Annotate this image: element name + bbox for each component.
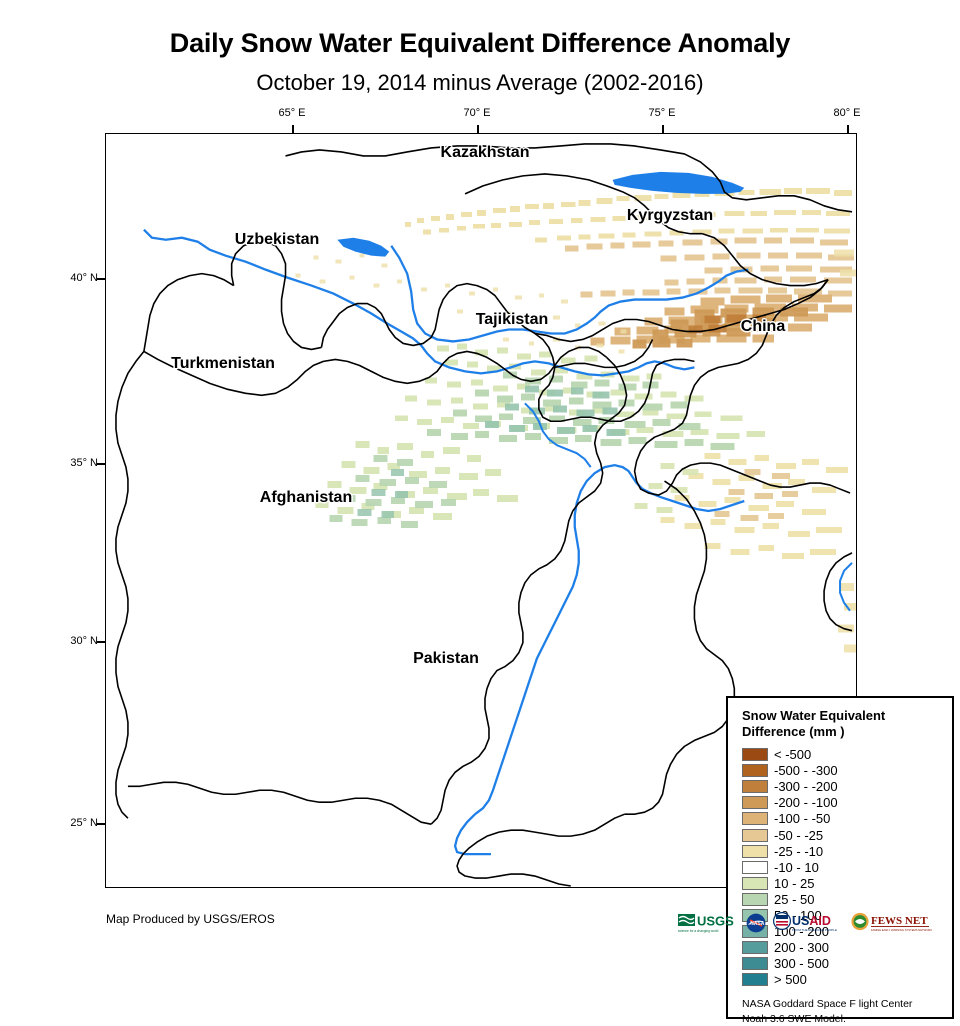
legend-swatch xyxy=(742,877,768,890)
legend-credit-line2: Noah 3.6 SWE Model. xyxy=(742,1012,952,1026)
border-kazakhstan xyxy=(286,144,852,212)
lon-tick xyxy=(662,125,664,134)
border-turkmenistan-west xyxy=(144,274,234,352)
legend-class-list: < -500-500 - -300-300 - -200-200 - -100-… xyxy=(742,747,952,988)
legend-row: 25 - 50 xyxy=(742,891,952,907)
legend-label: 200 - 300 xyxy=(774,940,829,955)
legend-swatch xyxy=(742,829,768,842)
lat-tick xyxy=(97,641,106,643)
legend-row: -25 - -10 xyxy=(742,843,952,859)
svg-text:FAMINE EARLY WARNING SYSTEMS N: FAMINE EARLY WARNING SYSTEMS NETWORK xyxy=(871,928,932,932)
lat-label-35: 35° N xyxy=(54,457,98,469)
legend-swatch xyxy=(742,893,768,906)
legend-title-line1: Snow Water Equivalent xyxy=(742,708,942,724)
country-label-uzbekistan: Uzbekistan xyxy=(235,231,319,249)
river-indus-delta xyxy=(455,814,491,854)
legend-label: -500 - -300 xyxy=(774,763,838,778)
border-turkmenistan-iran xyxy=(116,351,144,818)
legend-row: -300 - -200 xyxy=(742,779,952,795)
lon-label-65: 65° E xyxy=(278,107,305,119)
lon-label-70: 70° E xyxy=(463,107,490,119)
country-label-afghanistan: Afghanistan xyxy=(260,489,352,507)
border-china-tibet xyxy=(824,553,852,631)
legend-row: 10 - 25 xyxy=(742,875,952,891)
country-label-pakistan: Pakistan xyxy=(413,650,479,668)
svg-text:NASA: NASA xyxy=(750,921,765,927)
country-label-china: China xyxy=(741,318,785,336)
legend-label: -10 - 10 xyxy=(774,860,819,875)
lat-label-30: 30° N xyxy=(54,635,98,647)
lon-tick xyxy=(847,125,849,134)
legend-label: > 500 xyxy=(774,972,807,987)
fewsnet-logo[interactable]: FEWS NET FAMINE EARLY WARNING SYSTEMS NE… xyxy=(850,912,934,934)
legend-swatch xyxy=(742,957,768,970)
usaid-logo[interactable]: USAID FROM THE AMERICAN PEOPLE xyxy=(772,912,844,934)
legend-row: -200 - -100 xyxy=(742,795,952,811)
map-producer-credit: Map Produced by USGS/EROS xyxy=(106,912,275,926)
legend-swatch xyxy=(742,748,768,761)
legend-swatch xyxy=(742,780,768,793)
border-uzbek-kazakh xyxy=(232,242,322,350)
lat-tick xyxy=(97,823,106,825)
lon-label-80: 80° E xyxy=(833,107,860,119)
legend-label: -300 - -200 xyxy=(774,779,838,794)
country-label-tajikistan: Tajikistan xyxy=(476,311,549,329)
legend-swatch xyxy=(742,845,768,858)
lon-label-75: 75° E xyxy=(648,107,675,119)
legend-label: -50 - -25 xyxy=(774,828,823,843)
legend-row: -500 - -300 xyxy=(742,763,952,779)
agency-logos: USGS science for a changing world NASA U… xyxy=(678,908,934,938)
legend-row: -10 - 10 xyxy=(742,859,952,875)
lat-tick xyxy=(97,278,106,280)
legend-swatch xyxy=(742,861,768,874)
legend-label: 300 - 500 xyxy=(774,956,829,971)
legend-swatch xyxy=(742,941,768,954)
country-label-kazakhstan: Kazakhstan xyxy=(441,144,530,162)
legend-swatch xyxy=(742,764,768,777)
border-pakistan-coast xyxy=(457,814,625,886)
svg-text:FROM THE AMERICAN PEOPLE: FROM THE AMERICAN PEOPLE xyxy=(792,928,837,932)
legend-credit: NASA Goddard Space F light Center Noah 3… xyxy=(742,997,952,1026)
legend-label: -100 - -50 xyxy=(774,811,830,826)
legend-swatch xyxy=(742,796,768,809)
lat-tick xyxy=(97,463,106,465)
legend-label: < -500 xyxy=(774,747,811,762)
river-indus xyxy=(475,465,744,814)
legend-swatch xyxy=(742,973,768,986)
legend-row: < -500 xyxy=(742,747,952,763)
legend-label: 10 - 25 xyxy=(774,876,814,891)
svg-text:science for a changing world: science for a changing world xyxy=(678,929,719,933)
usgs-logo[interactable]: USGS science for a changing world xyxy=(678,912,740,934)
border-afghanistan-south xyxy=(128,782,431,824)
legend-label: -200 - -100 xyxy=(774,795,838,810)
legend-row: 300 - 500 xyxy=(742,956,952,972)
legend-title-line2: Difference (mm ) xyxy=(742,724,942,740)
nasa-logo[interactable]: NASA xyxy=(746,913,766,933)
legend-row: > 500 xyxy=(742,972,952,988)
lat-label-25: 25° N xyxy=(54,817,98,829)
legend-row: -50 - -25 xyxy=(742,827,952,843)
map-legend[interactable]: Snow Water Equivalent Difference (mm ) <… xyxy=(726,696,954,1019)
legend-row: 200 - 300 xyxy=(742,940,952,956)
map-frame[interactable]: 65° E 70° E 75° E 80° E 40° N 35° N 30° … xyxy=(105,133,857,888)
legend-label: -25 - -10 xyxy=(774,844,823,859)
svg-text:USAID: USAID xyxy=(792,914,831,928)
border-pakistan-east xyxy=(625,481,735,814)
legend-label: 25 - 50 xyxy=(774,892,814,907)
legend-title: Snow Water Equivalent Difference (mm ) xyxy=(742,708,942,741)
legend-row: -100 - -50 xyxy=(742,811,952,827)
legend-swatch xyxy=(742,812,768,825)
page-title: Daily Snow Water Equivalent Difference A… xyxy=(0,28,960,59)
legend-credit-line1: NASA Goddard Space F light Center xyxy=(742,997,952,1012)
swe-anomaly-raster xyxy=(295,188,856,653)
svg-text:FEWS NET: FEWS NET xyxy=(871,915,928,927)
country-label-kyrgyzstan: Kyrgyzstan xyxy=(627,207,713,225)
country-label-turkmenistan: Turkmenistan xyxy=(171,355,275,373)
lat-label-40: 40° N xyxy=(54,272,98,284)
lon-tick xyxy=(292,125,294,134)
lon-tick xyxy=(477,125,479,134)
page-subtitle: October 19, 2014 minus Average (2002-201… xyxy=(0,70,960,96)
svg-text:USGS: USGS xyxy=(697,914,734,929)
